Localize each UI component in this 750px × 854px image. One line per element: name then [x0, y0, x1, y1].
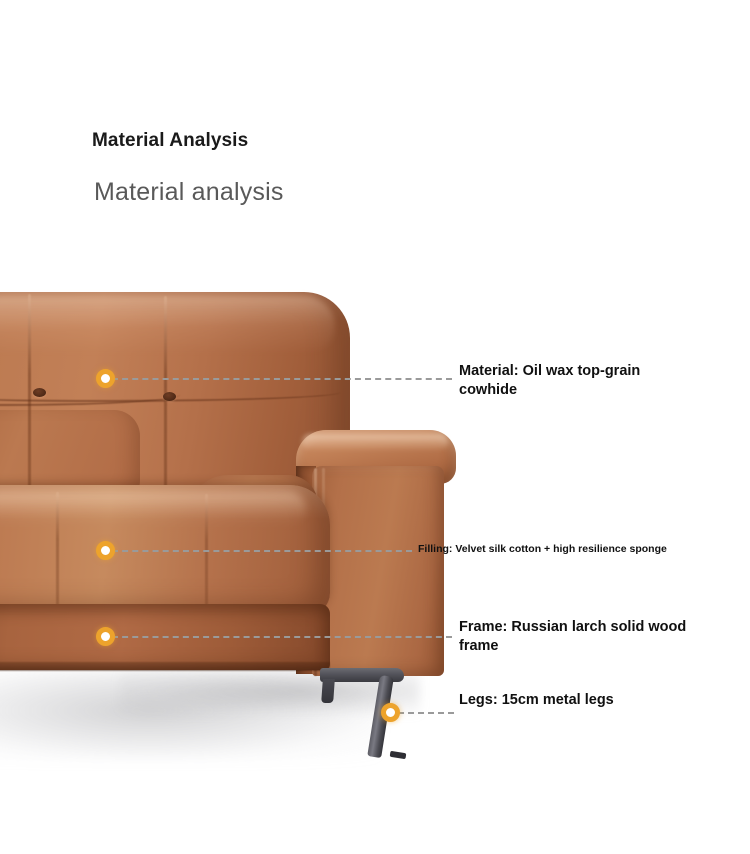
page-title: Material Analysis [92, 130, 248, 152]
sofa-metal-leg [318, 668, 428, 760]
callout-line-legs [398, 712, 454, 714]
seat-seam-left [56, 492, 59, 608]
armrest-highlight [302, 434, 448, 450]
callout-marker-filling[interactable] [96, 541, 115, 560]
tufting-button-left [33, 388, 46, 397]
callout-line-material [112, 378, 452, 380]
armrest-panel [312, 466, 444, 676]
callout-line-frame [112, 636, 452, 638]
backrest-highlight [0, 296, 335, 354]
seat-cushion-highlight [0, 492, 306, 526]
leg-foot [390, 751, 407, 759]
callout-marker-frame[interactable] [96, 627, 115, 646]
callout-label-legs: Legs: 15cm metal legs [459, 691, 689, 710]
leg-rear-stub [321, 679, 335, 703]
tufting-button-right [163, 392, 176, 401]
page-subtitle: Material analysis [94, 178, 284, 207]
sofa-illustration [0, 270, 460, 690]
callout-label-material: Material: Oil wax top-grain cowhide [459, 362, 689, 400]
callout-line-filling [112, 550, 412, 552]
callout-marker-material[interactable] [96, 369, 115, 388]
material-analysis-page: Material Analysis Material analysis [0, 0, 750, 854]
callout-label-frame: Frame: Russian larch solid wood frame [459, 618, 689, 656]
callout-marker-legs[interactable] [381, 703, 400, 722]
sofa-base-edge [0, 662, 330, 671]
callout-label-filling: Filling: Velvet silk cotton + high resil… [418, 543, 718, 557]
